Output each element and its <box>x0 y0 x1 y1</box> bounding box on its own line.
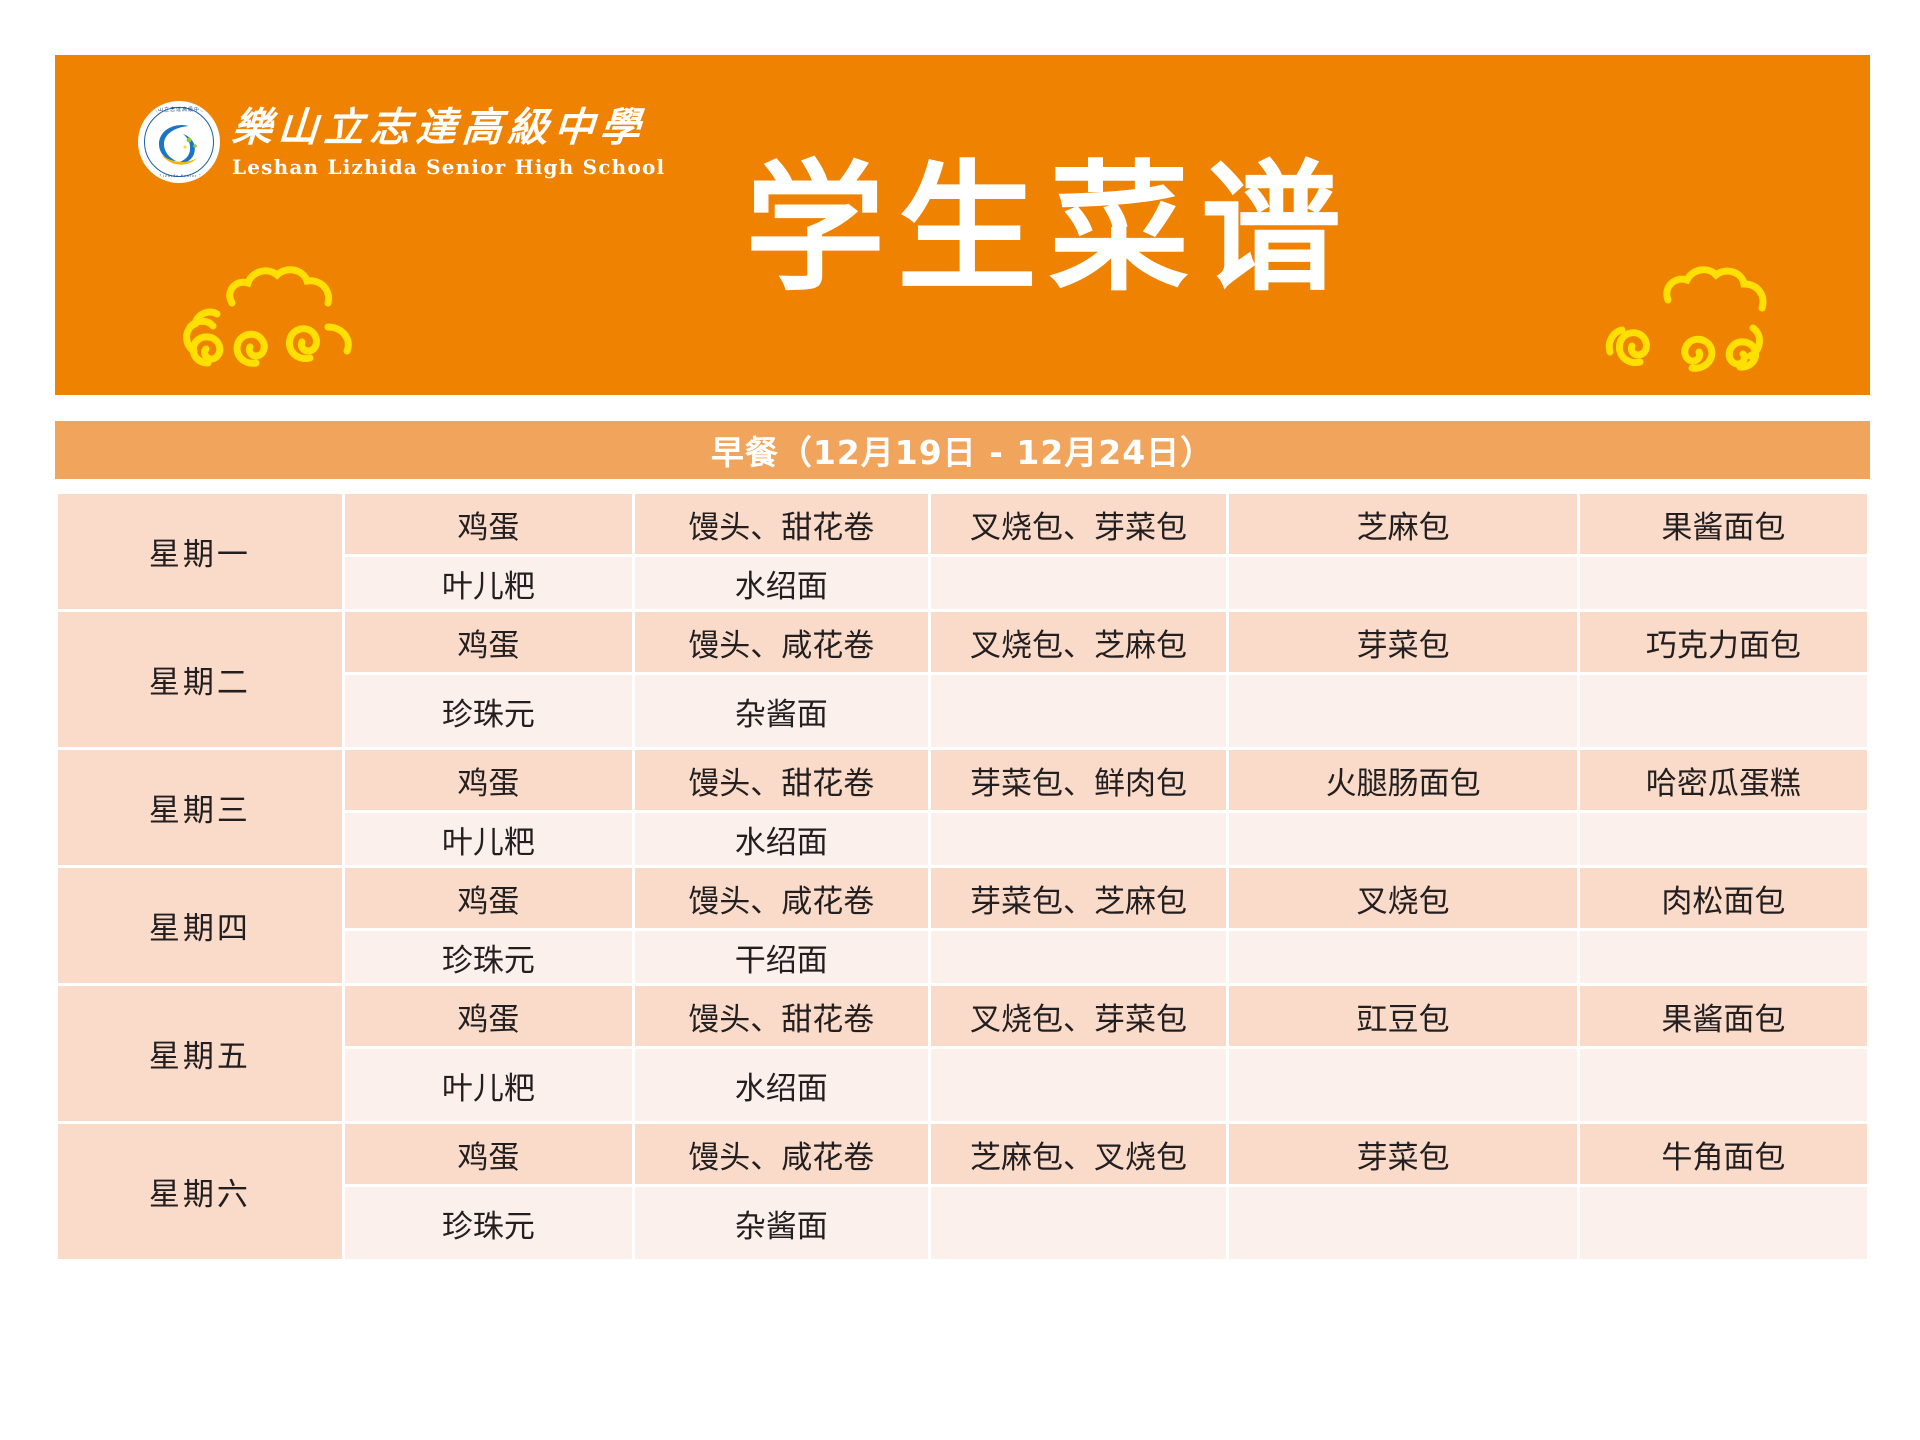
menu-item-cell <box>1580 931 1867 983</box>
day-label: 星期四 <box>58 868 342 983</box>
menu-item-cell <box>931 813 1227 865</box>
breakfast-menu-table: 星期一鸡蛋馒头、甜花卷叉烧包、芽菜包芝麻包果酱面包叶儿粑水绍面星期二鸡蛋馒头、咸… <box>55 491 1870 1262</box>
menu-item-cell: 馒头、咸花卷 <box>635 612 928 672</box>
crest-text-bottom: Leshan Lizhida Senior High School <box>140 173 218 178</box>
menu-item-cell <box>1580 675 1867 747</box>
menu-item-cell <box>931 675 1227 747</box>
meal-date-range-banner: 早餐（12月19日 - 12月24日） <box>55 419 1870 479</box>
crest-emblem-icon <box>153 120 205 168</box>
school-name-group: 樂山立志達高級中學 Leshan Lizhida Senior High Sch… <box>232 108 665 177</box>
header-banner: 樂山立志達高級中學 Leshan Lizhida Senior High Sch… <box>55 55 1870 395</box>
school-name-english: Leshan Lizhida Senior High School <box>232 157 665 177</box>
menu-table-row: 星期六鸡蛋馒头、咸花卷芝麻包、叉烧包芽菜包牛角面包 <box>58 1124 1867 1184</box>
menu-item-cell: 馒头、甜花卷 <box>635 986 928 1046</box>
menu-item-cell: 叶儿粑 <box>345 1049 632 1121</box>
menu-item-cell: 水绍面 <box>635 557 928 609</box>
menu-item-cell: 肉松面包 <box>1580 868 1867 928</box>
menu-item-cell: 杂酱面 <box>635 675 928 747</box>
menu-table-row: 星期四鸡蛋馒头、咸花卷芽菜包、芝麻包叉烧包肉松面包 <box>58 868 1867 928</box>
menu-item-cell: 馒头、咸花卷 <box>635 868 928 928</box>
menu-item-cell: 馒头、咸花卷 <box>635 1124 928 1184</box>
menu-item-cell: 鸡蛋 <box>345 750 632 810</box>
menu-item-cell: 水绍面 <box>635 1049 928 1121</box>
menu-item-cell: 果酱面包 <box>1580 986 1867 1046</box>
menu-item-cell <box>1580 813 1867 865</box>
day-label: 星期三 <box>58 750 342 865</box>
menu-table-row: 星期三鸡蛋馒头、甜花卷芽菜包、鲜肉包火腿肠面包哈密瓜蛋糕 <box>58 750 1867 810</box>
menu-item-cell <box>931 1049 1227 1121</box>
menu-item-cell: 鸡蛋 <box>345 1124 632 1184</box>
menu-item-cell: 豇豆包 <box>1229 986 1576 1046</box>
menu-item-cell: 鸡蛋 <box>345 868 632 928</box>
menu-item-cell <box>1229 557 1576 609</box>
menu-item-cell: 馒头、甜花卷 <box>635 750 928 810</box>
menu-item-cell <box>931 931 1227 983</box>
menu-item-cell: 叶儿粑 <box>345 813 632 865</box>
menu-item-cell: 杂酱面 <box>635 1187 928 1259</box>
menu-table-row: 星期五鸡蛋馒头、甜花卷叉烧包、芽菜包豇豆包果酱面包 <box>58 986 1867 1046</box>
menu-poster: 樂山立志達高級中學 Leshan Lizhida Senior High Sch… <box>0 0 1920 1440</box>
day-label: 星期六 <box>58 1124 342 1259</box>
meal-date-range-label: 早餐（12月19日 - 12月24日） <box>711 426 1214 474</box>
menu-item-cell: 芝麻包 <box>1229 494 1576 554</box>
menu-item-cell: 鸡蛋 <box>345 986 632 1046</box>
menu-item-cell <box>1229 675 1576 747</box>
menu-item-cell <box>1580 1049 1867 1121</box>
menu-item-cell <box>1229 1187 1576 1259</box>
menu-item-cell: 干绍面 <box>635 931 928 983</box>
cloud-decoration-icon <box>1600 260 1800 383</box>
menu-item-cell: 芽菜包、芝麻包 <box>931 868 1227 928</box>
menu-item-cell: 叉烧包、芽菜包 <box>931 986 1227 1046</box>
menu-item-cell <box>931 557 1227 609</box>
school-name-chinese: 樂山立志達高級中學 <box>231 108 667 148</box>
menu-item-cell <box>1229 1049 1576 1121</box>
menu-item-cell: 芽菜包 <box>1229 1124 1576 1184</box>
day-label: 星期一 <box>58 494 342 609</box>
menu-item-cell <box>931 1187 1227 1259</box>
day-label: 星期二 <box>58 612 342 747</box>
menu-table-row: 星期二鸡蛋馒头、咸花卷叉烧包、芝麻包芽菜包巧克力面包 <box>58 612 1867 672</box>
menu-table-row: 星期一鸡蛋馒头、甜花卷叉烧包、芽菜包芝麻包果酱面包 <box>58 494 1867 554</box>
menu-item-cell: 叉烧包 <box>1229 868 1576 928</box>
day-label: 星期五 <box>58 986 342 1121</box>
menu-item-cell <box>1229 813 1576 865</box>
menu-item-cell: 馒头、甜花卷 <box>635 494 928 554</box>
school-identity: 樂山立志達高級中學 Leshan Lizhida Senior High Sch… <box>140 103 665 181</box>
menu-item-cell <box>1580 557 1867 609</box>
menu-item-cell: 珍珠元 <box>345 931 632 983</box>
menu-item-cell: 哈密瓜蛋糕 <box>1580 750 1867 810</box>
menu-item-cell: 叉烧包、芽菜包 <box>931 494 1227 554</box>
menu-item-cell <box>1580 1187 1867 1259</box>
menu-item-cell: 叉烧包、芝麻包 <box>931 612 1227 672</box>
menu-item-cell: 珍珠元 <box>345 675 632 747</box>
page-title: 学生菜谱 <box>745 160 1353 300</box>
menu-item-cell: 叶儿粑 <box>345 557 632 609</box>
menu-table-body: 星期一鸡蛋馒头、甜花卷叉烧包、芽菜包芝麻包果酱面包叶儿粑水绍面星期二鸡蛋馒头、咸… <box>58 494 1867 1259</box>
menu-item-cell: 水绍面 <box>635 813 928 865</box>
crest-text-top: 樂山立志達高級中學 <box>140 106 218 113</box>
menu-item-cell: 巧克力面包 <box>1580 612 1867 672</box>
menu-item-cell: 芝麻包、叉烧包 <box>931 1124 1227 1184</box>
school-crest-logo-icon: 樂山立志達高級中學 Leshan Lizhida Senior High Sch… <box>140 103 218 181</box>
menu-item-cell: 珍珠元 <box>345 1187 632 1259</box>
menu-item-cell: 芽菜包、鲜肉包 <box>931 750 1227 810</box>
menu-item-cell: 果酱面包 <box>1580 494 1867 554</box>
menu-item-cell: 牛角面包 <box>1580 1124 1867 1184</box>
menu-item-cell <box>1229 931 1576 983</box>
menu-item-cell: 鸡蛋 <box>345 612 632 672</box>
menu-item-cell: 芽菜包 <box>1229 612 1576 672</box>
menu-item-cell: 火腿肠面包 <box>1229 750 1576 810</box>
cloud-decoration-icon <box>160 255 375 380</box>
menu-item-cell: 鸡蛋 <box>345 494 632 554</box>
